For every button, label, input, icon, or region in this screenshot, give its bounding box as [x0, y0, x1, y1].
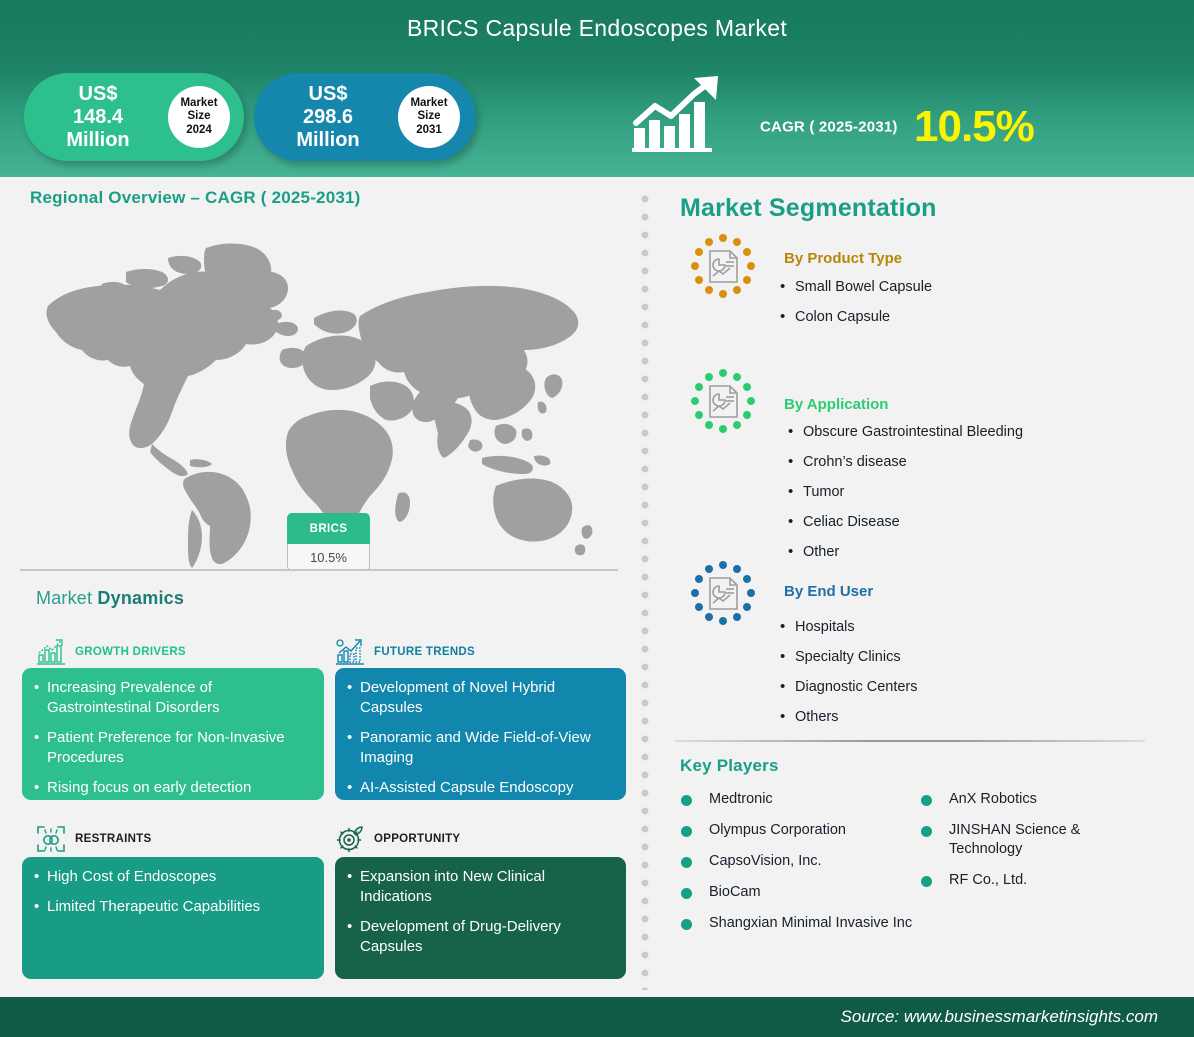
list-item: Hospitals — [778, 618, 1078, 637]
brics-cagr-value: 10.5% — [287, 544, 370, 571]
regional-overview-title: Regional Overview – CAGR ( 2025-2031) — [30, 188, 361, 208]
list-item: Development of Novel Hybrid Capsules — [347, 678, 614, 718]
list-item: RF Co., Ltd. — [916, 871, 1146, 890]
list-item: Tumor — [786, 483, 1116, 502]
list-item: Others — [778, 708, 1078, 727]
badge-2024-line2: Size — [187, 110, 210, 124]
growth-drivers-list: Increasing Prevalence of Gastrointestina… — [34, 678, 312, 798]
market-size-2031-pill: US$ 298.6 Million Market Size 2031 — [254, 73, 476, 161]
growth-chart-arrow-icon — [632, 76, 724, 152]
key-players-title: Key Players — [680, 756, 779, 776]
opportunity-header: OPPORTUNITY — [335, 824, 460, 854]
key-players-column-left: Medtronic Olympus Corporation CapsoVisio… — [676, 790, 916, 945]
future-trends-header: FUTURE TRENDS — [335, 637, 475, 667]
list-item: Limited Therapeutic Capabilities — [34, 897, 312, 917]
segment-list-end-user: Hospitals Specialty Clinics Diagnostic C… — [778, 618, 1078, 738]
badge-2024-line1: Market — [180, 97, 217, 111]
growth-drivers-header: GROWTH DRIVERS — [36, 637, 186, 667]
segment-report-icon — [690, 368, 756, 434]
segment-list-application: Obscure Gastrointestinal Bleeding Crohn’… — [786, 423, 1116, 573]
future-trends-chart-icon — [335, 637, 365, 667]
market-size-2031-value: US$ 298.6 Million — [260, 83, 396, 152]
segment-list-product-type: Small Bowel Capsule Colon Capsule — [778, 278, 958, 338]
list-item: AnX Robotics — [916, 790, 1146, 809]
infographic-page: BRICS Capsule Endoscopes Market US$ 148.… — [0, 0, 1194, 1037]
dynamics-title-bold: Dynamics — [97, 588, 184, 608]
list-item: AI-Assisted Capsule Endoscopy — [347, 778, 614, 798]
key-players-columns: Medtronic Olympus Corporation CapsoVisio… — [676, 790, 1146, 945]
source-text: Source: www.businessmarketinsights.com — [841, 1007, 1158, 1027]
restraints-box: High Cost of Endoscopes Limited Therapeu… — [22, 857, 324, 979]
market-size-2024-pill: US$ 148.4 Million Market Size 2024 — [24, 73, 244, 161]
page-title: BRICS Capsule Endoscopes Market — [0, 15, 1194, 42]
vertical-dotted-divider — [640, 190, 650, 990]
key-players-divider — [675, 740, 1145, 742]
amount-2031: 298.6 — [260, 106, 396, 129]
key-players-column-right: AnX Robotics JINSHAN Science & Technolog… — [916, 790, 1146, 945]
list-item: Crohn’s disease — [786, 453, 1116, 472]
cagr-label: CAGR ( 2025-2031) — [760, 119, 898, 136]
list-item: Colon Capsule — [778, 308, 958, 327]
opportunity-list: Expansion into New Clinical Indications … — [347, 867, 614, 957]
market-size-2024-badge: Market Size 2024 — [168, 86, 230, 148]
list-item: Patient Preference for Non-Invasive Proc… — [34, 728, 312, 768]
unit-2024: Million — [30, 129, 166, 152]
badge-2031-line3: 2031 — [416, 124, 442, 138]
key-players-list-left: Medtronic Olympus Corporation CapsoVisio… — [676, 790, 916, 933]
segment-heading-application: By Application — [784, 396, 888, 413]
growth-drivers-chart-icon — [36, 637, 66, 667]
list-item: Diagnostic Centers — [778, 678, 1078, 697]
list-item: Rising focus on early detection — [34, 778, 312, 798]
list-item: High Cost of Endoscopes — [34, 867, 312, 887]
header-banner: BRICS Capsule Endoscopes Market US$ 148.… — [0, 0, 1194, 177]
segment-report-icon — [690, 560, 756, 626]
future-trends-list: Development of Novel Hybrid Capsules Pan… — [347, 678, 614, 798]
badge-2031-line2: Size — [417, 110, 440, 124]
restraints-header: RESTRAINTS — [36, 824, 151, 854]
map-baseline-divider — [20, 569, 618, 571]
segment-heading-end-user: By End User — [784, 583, 873, 600]
list-item: BioCam — [676, 883, 916, 902]
list-item: Shangxian Minimal Invasive Inc — [676, 914, 916, 933]
growth-drivers-box: Increasing Prevalence of Gastrointestina… — [22, 668, 324, 800]
key-players-list-right: AnX Robotics JINSHAN Science & Technolog… — [916, 790, 1146, 890]
market-dynamics-title: Market Dynamics — [36, 588, 184, 609]
list-item: Medtronic — [676, 790, 916, 809]
list-item: Specialty Clinics — [778, 648, 1078, 667]
badge-2024-line3: 2024 — [186, 124, 212, 138]
badge-2031-line1: Market — [410, 97, 447, 111]
market-segmentation-title: Market Segmentation — [680, 194, 937, 223]
list-item: Other — [786, 543, 1116, 562]
growth-drivers-label: GROWTH DRIVERS — [75, 646, 186, 658]
currency-label-2031: US$ — [260, 83, 396, 106]
amount-2024: 148.4 — [30, 106, 166, 129]
market-size-2031-badge: Market Size 2031 — [398, 86, 460, 148]
list-item: Small Bowel Capsule — [778, 278, 958, 297]
currency-label-2024: US$ — [30, 83, 166, 106]
restraints-label: RESTRAINTS — [75, 833, 151, 845]
segment-report-icon — [690, 233, 756, 299]
list-item: Olympus Corporation — [676, 821, 916, 840]
list-item: JINSHAN Science & Technology — [916, 821, 1146, 859]
cagr-value: 10.5% — [914, 102, 1034, 152]
restraints-chain-icon — [36, 824, 66, 854]
list-item: Development of Drug-Delivery Capsules — [347, 917, 614, 957]
market-size-2024-value: US$ 148.4 Million — [30, 83, 166, 152]
restraints-list: High Cost of Endoscopes Limited Therapeu… — [34, 867, 312, 917]
footer-bar: Source: www.businessmarketinsights.com — [0, 997, 1194, 1037]
segment-heading-product-type: By Product Type — [784, 250, 902, 267]
list-item: Obscure Gastrointestinal Bleeding — [786, 423, 1116, 442]
opportunity-box: Expansion into New Clinical Indications … — [335, 857, 626, 979]
list-item: Panoramic and Wide Field-of-View Imaging — [347, 728, 614, 768]
future-trends-label: FUTURE TRENDS — [374, 646, 475, 658]
dynamics-title-light: Market — [36, 588, 97, 608]
list-item: CapsoVision, Inc. — [676, 852, 916, 871]
future-trends-box: Development of Novel Hybrid Capsules Pan… — [335, 668, 626, 800]
list-item: Celiac Disease — [786, 513, 1116, 532]
list-item: Expansion into New Clinical Indications — [347, 867, 614, 907]
list-item: Increasing Prevalence of Gastrointestina… — [34, 678, 312, 718]
opportunity-gear-icon — [335, 824, 365, 854]
opportunity-label: OPPORTUNITY — [374, 833, 460, 845]
unit-2031: Million — [260, 129, 396, 152]
brics-callout: BRICS 10.5% — [287, 513, 370, 570]
brics-region-label: BRICS — [287, 513, 370, 544]
